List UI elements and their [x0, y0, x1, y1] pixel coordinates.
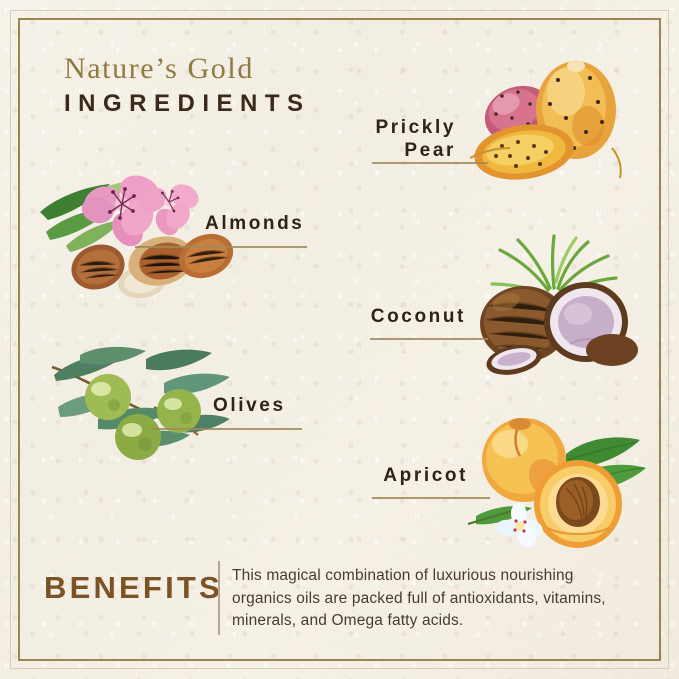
- ingredient-label-prickly-pear: Prickly Pear: [320, 116, 456, 162]
- ingredient-rule-almonds: [135, 246, 307, 248]
- ingredient-rule-apricot: [372, 497, 490, 499]
- ingredient-rule-prickly-pear: [372, 162, 488, 164]
- benefits-divider: [218, 561, 220, 635]
- ingredient-label-almonds-text: Almonds: [205, 212, 304, 235]
- ingredient-rule-coconut: [370, 338, 488, 340]
- page-subtitle: INGREDIENTS: [64, 90, 311, 118]
- prickly-pear-illustration: [462, 52, 642, 182]
- ingredient-rule-olives: [152, 428, 302, 430]
- ingredient-label-coconut: Coconut: [330, 305, 466, 328]
- olive-illustration: [46, 345, 231, 460]
- ingredients-poster: Nature’s Gold INGREDIENTS: [0, 0, 679, 679]
- apricot-illustration: [462, 408, 647, 543]
- ingredient-label-apricot: Apricot: [332, 464, 468, 487]
- ingredient-label-coconut-text: Coconut: [330, 305, 466, 328]
- ingredient-label-almonds: Almonds: [205, 212, 304, 235]
- ingredient-label-olives-text: Olives: [213, 394, 286, 417]
- ingredient-label-olives: Olives: [213, 394, 286, 417]
- benefits-heading: BENEFITS: [44, 570, 223, 606]
- benefits-body: This magical combination of luxurious no…: [232, 565, 632, 633]
- page-title: Nature’s Gold: [64, 52, 254, 86]
- ingredient-label-prickly-pear-line1: Prickly: [320, 116, 456, 139]
- ingredient-label-apricot-text: Apricot: [332, 464, 468, 487]
- ingredient-label-prickly-pear-line2: Pear: [320, 139, 456, 162]
- coconut-illustration: [462, 232, 642, 367]
